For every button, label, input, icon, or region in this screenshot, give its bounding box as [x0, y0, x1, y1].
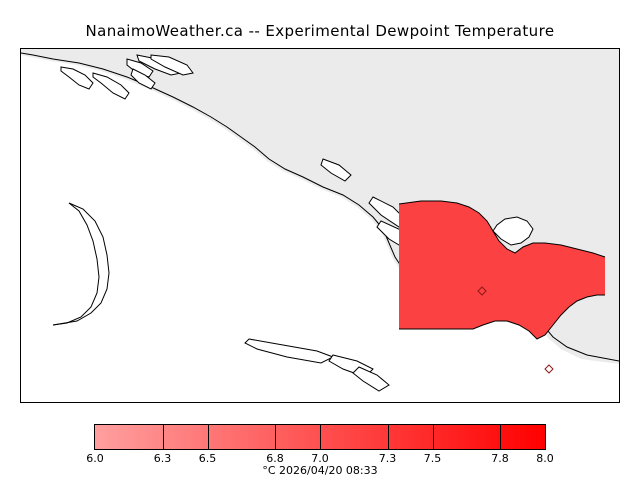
page-title: NanaimoWeather.ca -- Experimental Dewpoi…	[0, 22, 640, 40]
colorbar-tick-mark	[388, 424, 389, 450]
map-canvas[interactable]	[21, 49, 619, 402]
colorbar-tick-mark	[275, 424, 276, 450]
colorbar[interactable]	[94, 424, 546, 450]
colorbar-tick-mark	[163, 424, 164, 450]
colorbar-tick-mark	[208, 424, 209, 450]
weather-map-page: NanaimoWeather.ca -- Experimental Dewpoi…	[0, 0, 640, 480]
colorbar-tick-mark	[320, 424, 321, 450]
map-frame[interactable]	[20, 48, 620, 403]
colorbar-tick-marks	[94, 424, 546, 450]
colorbar-tick-mark	[433, 424, 434, 450]
footer-timestamp: °C 2026/04/20 08:33	[0, 464, 640, 477]
colorbar-tick-mark	[500, 424, 501, 450]
